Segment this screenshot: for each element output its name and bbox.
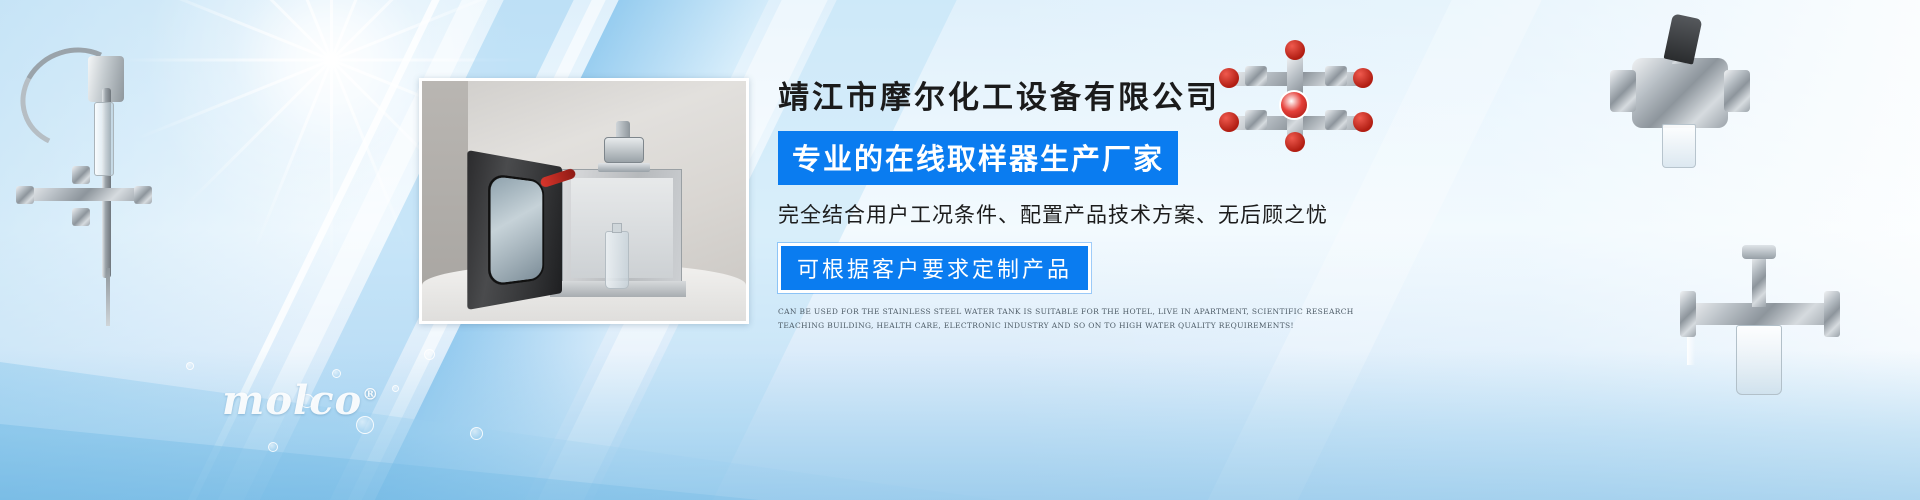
left-equipment-illustration xyxy=(10,28,170,318)
bubble-icon xyxy=(424,349,435,360)
lower-right-equipment-illustration xyxy=(1680,255,1850,415)
promotional-banner: 靖江市摩尔化工设备有限公司 专业的在线取样器生产厂家 完全结合用户工况条件、配置… xyxy=(0,0,1920,500)
upper-right-equipment-illustration xyxy=(1610,20,1760,165)
callout-box: 可根据客户要求定制产品 xyxy=(778,243,1091,293)
bubble-icon xyxy=(268,442,278,452)
registered-mark-icon: ® xyxy=(362,385,379,404)
watermark-logo: molco® xyxy=(222,377,379,424)
english-paragraph: CAN BE USED FOR THE STAINLESS STEEL WATE… xyxy=(778,305,1378,333)
bubble-icon xyxy=(186,362,194,370)
top-right-equipment-illustration xyxy=(1215,38,1395,148)
bottom-wave-accent xyxy=(0,300,760,500)
product-photo xyxy=(419,78,749,324)
sub-line: 完全结合用户工况条件、配置产品技术方案、无后顾之忧 xyxy=(778,199,1398,229)
company-seal-icon xyxy=(1279,90,1309,120)
bubble-icon xyxy=(392,385,399,392)
bubble-icon xyxy=(470,427,483,440)
headline-highlight: 专业的在线取样器生产厂家 xyxy=(778,131,1178,185)
floor-gradient xyxy=(0,350,1920,500)
watermark-text: molco xyxy=(222,377,362,424)
